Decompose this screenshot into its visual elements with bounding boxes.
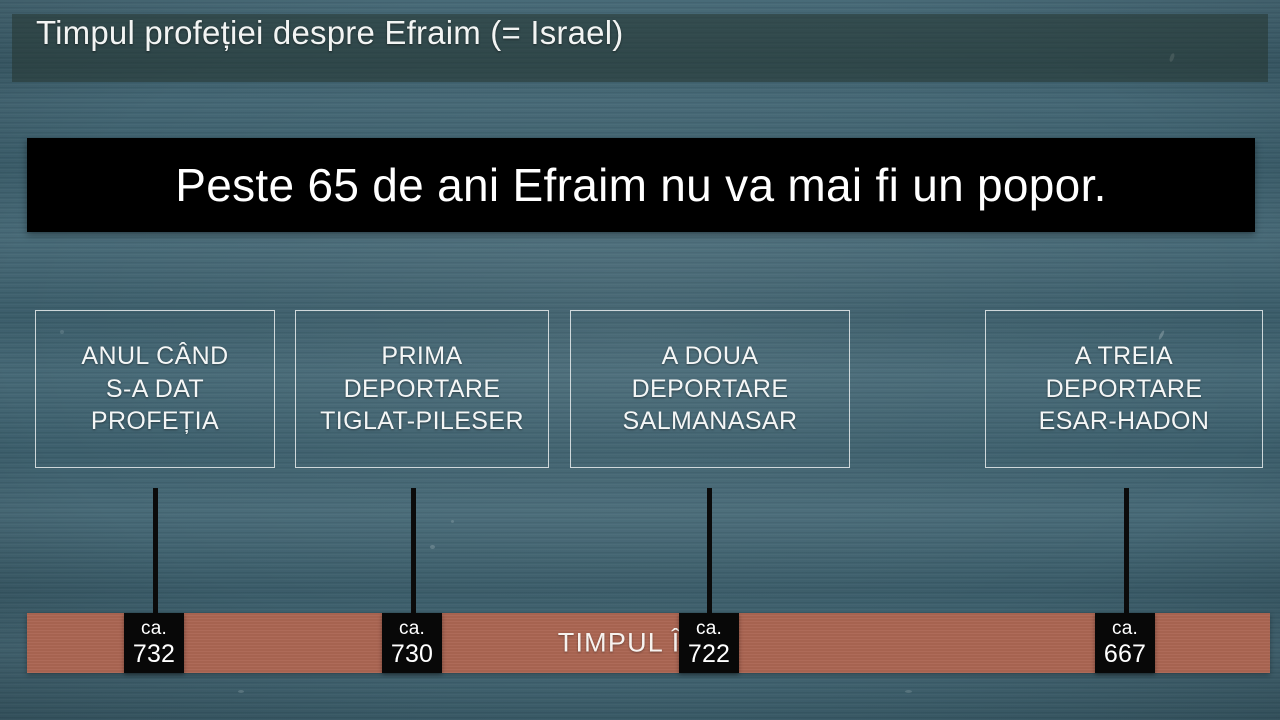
texture-speck: [905, 690, 912, 693]
connector-stem-4: [1124, 488, 1129, 616]
connector-stem-3: [707, 488, 712, 616]
date-chip-2-year: 730: [391, 640, 433, 668]
headline-banner: Peste 65 de ani Efraim nu va mai fi un p…: [27, 138, 1255, 232]
slide-canvas: Timpul profeției despre Efraim (= Israel…: [0, 0, 1280, 720]
event-box-3-line-1: A DOUA: [662, 340, 759, 373]
date-chip-4: ca. 667: [1095, 613, 1155, 673]
connector-stem-1: [153, 488, 158, 616]
date-chip-4-year: 667: [1104, 640, 1146, 668]
date-chip-1-year: 732: [133, 640, 175, 668]
event-box-3-line-2: DEPORTARE: [632, 373, 789, 406]
date-chip-3: ca. 722: [679, 613, 739, 673]
date-chip-3-year: 722: [688, 640, 730, 668]
event-box-1-line-3: PROFEȚIA: [91, 405, 219, 438]
connector-stem-2: [411, 488, 416, 616]
event-box-1-line-1: ANUL CÂND: [81, 340, 228, 373]
date-chip-4-ca: ca.: [1112, 618, 1138, 639]
event-box-3: A DOUA DEPORTARE SALMANASAR: [570, 310, 850, 468]
event-box-4-line-1: A TREIA: [1075, 340, 1173, 373]
headline-text: Peste 65 de ani Efraim nu va mai fi un p…: [175, 158, 1106, 212]
event-box-1-line-2: S-A DAT: [106, 373, 204, 406]
event-box-3-line-3: SALMANASAR: [623, 405, 798, 438]
texture-speck: [238, 690, 244, 693]
event-box-2-line-3: TIGLAT-PILESER: [320, 405, 524, 438]
event-box-4-line-2: DEPORTARE: [1046, 373, 1203, 406]
timeline-bar: TIMPUL Î. HR: [27, 613, 1270, 673]
event-box-4: A TREIA DEPORTARE ESAR-HADON: [985, 310, 1263, 468]
page-title: Timpul profeției despre Efraim (= Israel…: [36, 14, 623, 52]
event-box-2-line-1: PRIMA: [381, 340, 462, 373]
event-box-1: ANUL CÂND S-A DAT PROFEȚIA: [35, 310, 275, 468]
texture-speck: [430, 545, 435, 549]
timeline-era-label: TIMPUL Î. HR: [27, 628, 1270, 659]
date-chip-1: ca. 732: [124, 613, 184, 673]
date-chip-2-ca: ca.: [399, 618, 425, 639]
date-chip-1-ca: ca.: [141, 618, 167, 639]
event-box-2-line-2: DEPORTARE: [344, 373, 501, 406]
date-chip-3-ca: ca.: [696, 618, 722, 639]
event-box-2: PRIMA DEPORTARE TIGLAT-PILESER: [295, 310, 549, 468]
texture-speck: [451, 520, 454, 523]
date-chip-2: ca. 730: [382, 613, 442, 673]
event-box-4-line-3: ESAR-HADON: [1039, 405, 1210, 438]
